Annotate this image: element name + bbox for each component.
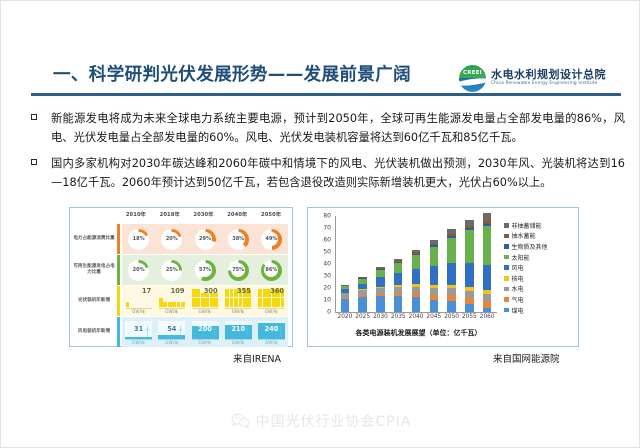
square-bullet-icon <box>31 114 37 120</box>
bar-segment <box>376 296 385 312</box>
y-tick-label: 10 <box>323 297 331 304</box>
wind-fill-level <box>125 337 152 339</box>
legend-item: 太阳能 <box>504 252 578 263</box>
irena-table: 2010年2018年2030年2040年2050年 电力占能源消费比重18%20… <box>70 208 292 346</box>
bar-segment <box>394 296 403 312</box>
irena-column-headers: 2010年2018年2030年2040年2050年 <box>73 211 288 224</box>
y-axis-ticks: 01020304050607080 <box>308 216 334 312</box>
irena-cell: 49% <box>255 224 288 254</box>
bar-stack <box>376 267 385 312</box>
irena-cell: 18% <box>122 224 155 254</box>
irena-row-cells: 20%25%57%75%86% <box>122 255 288 285</box>
bar-stack <box>447 229 456 312</box>
irena-column-header: 2040年 <box>220 211 254 224</box>
bar-column <box>425 240 443 312</box>
creei-emblem-icon: CREEI <box>459 65 486 92</box>
page-title: 一、科学研判光伏发展形势——发展前景广阔 <box>53 63 411 87</box>
wind-turbine-icon <box>245 322 250 333</box>
bar-segment <box>447 288 456 295</box>
irena-cell: 20% <box>122 255 155 285</box>
irena-cell: 210GW/年 <box>222 317 255 347</box>
legend-swatch <box>504 287 509 292</box>
bar-segment <box>430 266 439 285</box>
donut-value: 29% <box>198 232 212 246</box>
donut-gauge: 29% <box>195 229 216 250</box>
x-tick-label: 2040 <box>407 314 425 320</box>
wind-turbine-icon <box>212 322 217 333</box>
irena-cell: 25% <box>155 255 188 285</box>
bar-segment <box>447 263 456 285</box>
organization-logo: CREEI 水电水利规划设计总院 China Renewable Energy … <box>459 64 635 92</box>
chart-frame: 01020304050607080 2020202520302035204020… <box>307 207 579 347</box>
legend-item: 水电 <box>504 284 578 295</box>
irena-column-header: 2018年 <box>153 211 187 224</box>
bar-segment <box>412 269 421 285</box>
bar-stack <box>465 220 474 312</box>
x-tick-label: 2045 <box>425 314 443 320</box>
chart-caption: 各类电源装机发展展望（单位：亿千瓦） <box>326 328 511 338</box>
donut-gauge: 20% <box>161 229 182 250</box>
bar-column <box>460 220 478 312</box>
footer-text: 中国光伏行业协会CPIA <box>256 411 412 431</box>
donut-value: 25% <box>165 263 179 277</box>
bar-segment <box>483 226 492 265</box>
wind-unit: GW/年 <box>258 339 285 347</box>
irena-cell: 300GW/年 <box>188 286 221 316</box>
logo-name-en: China Renewable Energy Engineering Insti… <box>491 82 606 87</box>
irena-cell: 17GW/年 <box>122 286 155 316</box>
bar-segment <box>465 291 474 298</box>
legend-label: 抽水蓄能 <box>512 231 536 240</box>
wind-unit: GW/年 <box>225 339 252 347</box>
donut-gauge: 38% <box>228 229 249 250</box>
legend-swatch <box>504 308 509 313</box>
bullet-text: 国内多家机构对2030年碳达峰和2060年碳中和情境下的风电、光伏装机做出预测，… <box>51 154 625 192</box>
y-tick-label: 50 <box>323 249 331 256</box>
plot-area <box>336 216 496 312</box>
bar-column <box>407 250 425 312</box>
irena-column-header: 2050年 <box>254 211 288 224</box>
y-tick-label: 0 <box>327 309 331 316</box>
y-tick-label: 70 <box>323 225 331 232</box>
pv-unit: GW/年 <box>159 308 185 316</box>
x-tick-label: 2060 <box>478 314 496 320</box>
pv-value: 360 <box>270 287 284 295</box>
pv-unit: GW/年 <box>225 308 251 316</box>
legend-item: 核电 <box>504 273 578 284</box>
donut-gauge: 18% <box>128 229 149 250</box>
bar-stack <box>412 250 421 312</box>
legend-label: 非抽蓄储能 <box>512 221 542 230</box>
y-tick-label: 80 <box>323 213 331 220</box>
donut-gauge: 20% <box>128 260 149 281</box>
wind-fill-box: 200 <box>192 321 219 339</box>
legend-item: 风电 <box>504 262 578 273</box>
pv-unit: GW/年 <box>126 308 152 316</box>
legend-item: 生物质及其他 <box>504 241 578 252</box>
legend-label: 风电 <box>512 263 524 272</box>
irena-row-cells: 31GW/年54GW/年200GW/年210GW/年240GW/年 <box>122 317 288 347</box>
donut-gauge: 49% <box>261 229 282 250</box>
bar-segment <box>394 263 403 273</box>
bullet-text: 新能源发电将成为未来全球电力系统主要电源，预计到2050年，全球可再生能源发电量… <box>51 109 625 147</box>
irena-cell: 86% <box>255 255 288 285</box>
stacked-bar-chart: 01020304050607080 2020202520302035204020… <box>308 208 578 346</box>
bar-stack <box>341 285 350 312</box>
irena-row-accent <box>117 286 120 316</box>
title-underline <box>31 93 621 96</box>
legend-swatch <box>504 297 509 302</box>
irena-row: 可再生能源发电占电力比重20%25%57%75%86% <box>73 255 288 285</box>
irena-cell: 20% <box>155 224 188 254</box>
irena-row-cells: 18%20%29%38%49% <box>122 224 288 254</box>
source-label-left: 来自IRENA <box>233 351 281 365</box>
bar-segment <box>465 304 474 312</box>
pv-value: 355 <box>237 287 251 295</box>
bar-segment <box>376 270 385 277</box>
logo-wave-shape <box>459 76 486 86</box>
irena-row-accent <box>117 224 120 254</box>
wind-fill-box: 210 <box>225 321 252 339</box>
legend-label: 煤电 <box>512 306 524 315</box>
irena-frame: 2010年2018年2030年2040年2050年 电力占能源消费比重18%20… <box>69 207 293 347</box>
irena-row-label: 电力占能源消费比重 <box>73 224 117 254</box>
donut-gauge: 86% <box>261 260 282 281</box>
bar-segment <box>447 301 456 312</box>
donut-value: 20% <box>165 232 179 246</box>
bar-stack <box>430 240 439 312</box>
bar-segment <box>447 238 456 263</box>
wind-fill-box: 240 <box>258 321 285 339</box>
irena-row-cells: 17GW/年109GW/年300GW/年355GW/年360GW/年 <box>122 286 288 316</box>
bar-column <box>354 277 372 312</box>
bullet-list: 新能源发电将成为未来全球电力系统主要电源，预计到2050年，全球可再生能源发电量… <box>25 109 625 199</box>
bar-segment <box>483 265 492 290</box>
bar-segment <box>465 230 474 263</box>
irena-row: 电力占能源消费比重18%20%29%38%49% <box>73 224 288 254</box>
irena-cell: 31GW/年 <box>122 317 155 347</box>
irena-cell: 54GW/年 <box>155 317 188 347</box>
legend-swatch <box>504 223 509 228</box>
pv-value: 109 <box>171 287 185 295</box>
bar-segment <box>412 297 421 312</box>
legend-swatch <box>504 276 509 281</box>
y-tick-label: 20 <box>323 285 331 292</box>
x-tick-label: 2055 <box>460 314 478 320</box>
irena-column-header: 2030年 <box>187 211 221 224</box>
capacity-outlook-chart: 01020304050607080 2020202520302035204020… <box>307 207 579 347</box>
wind-fill-box: 54 <box>158 321 185 339</box>
bar-column <box>389 259 407 312</box>
legend-label: 核电 <box>512 274 524 283</box>
legend-swatch <box>504 265 509 270</box>
donut-value: 49% <box>264 232 278 246</box>
irena-cell: 75% <box>222 255 255 285</box>
donut-gauge: 57% <box>195 260 216 281</box>
irena-cell: 355GW/年 <box>222 286 255 316</box>
legend-swatch <box>504 234 509 239</box>
bar-segment <box>430 288 439 295</box>
irena-cell: 109GW/年 <box>155 286 188 316</box>
irena-rows: 电力占能源消费比重18%20%29%38%49%可再生能源发电占电力比重20%2… <box>73 224 288 347</box>
irena-cell: 360GW/年 <box>255 286 288 316</box>
donut-value: 18% <box>132 232 146 246</box>
irena-row-label: 光伏装机年新增 <box>73 286 117 316</box>
bar-stack <box>483 213 492 312</box>
irena-cell: 240GW/年 <box>255 317 288 347</box>
x-tick-label: 2020 <box>336 314 354 320</box>
x-tick-label: 2035 <box>389 314 407 320</box>
bullet-item: 国内多家机构对2030年碳达峰和2060年碳中和情境下的风电、光伏装机做出预测，… <box>25 154 625 192</box>
irena-row: 光伏装机年新增17GW/年109GW/年300GW/年355GW/年360GW/… <box>73 286 288 316</box>
pv-value: 17 <box>142 287 151 295</box>
legend-item: 煤电 <box>504 305 578 316</box>
bar-segment <box>394 273 403 285</box>
y-tick-label: 30 <box>323 273 331 280</box>
donut-value: 20% <box>132 263 146 277</box>
bar-segment <box>412 255 421 269</box>
pv-value: 300 <box>204 287 218 295</box>
legend-swatch <box>504 255 509 260</box>
wind-turbine-icon <box>178 322 183 333</box>
wind-turbine-icon <box>278 322 283 333</box>
donut-value: 57% <box>198 263 212 277</box>
irena-cell: 38% <box>222 224 255 254</box>
bar-segment <box>341 299 350 312</box>
bar-segment <box>376 277 385 286</box>
x-tick-label: 2050 <box>443 314 461 320</box>
x-axis-labels: 202020252030203520402045205020552060 <box>336 314 496 320</box>
irena-cell: 29% <box>188 224 221 254</box>
pv-unit: GW/年 <box>258 308 284 316</box>
legend-label: 水电 <box>512 284 524 293</box>
irena-row: 风电装机年新增31GW/年54GW/年200GW/年210GW/年240GW/年 <box>73 317 288 347</box>
donut-gauge: 25% <box>161 260 182 281</box>
x-axis-line <box>335 312 497 313</box>
legend-item: 非抽蓄储能 <box>504 220 578 231</box>
bar-column <box>336 285 354 312</box>
bar-segment <box>483 308 492 312</box>
wechat-icon <box>231 413 250 429</box>
wind-fill-box: 31 <box>125 321 152 339</box>
irena-infographic: 2010年2018年2030年2040年2050年 电力占能源消费比重18%20… <box>69 207 293 347</box>
legend-item: 气电 <box>504 294 578 305</box>
bar-segment <box>483 213 492 221</box>
irena-cell: 200GW/年 <box>188 317 221 347</box>
logo-mark-text: CREEI <box>459 70 486 76</box>
y-tick-label: 40 <box>323 261 331 268</box>
legend-label: 气电 <box>512 295 524 304</box>
bar-segment <box>483 294 492 301</box>
irena-row-label: 风电装机年新增 <box>73 317 117 347</box>
wind-turbine-icon <box>145 322 150 333</box>
pv-unit: GW/年 <box>192 308 218 316</box>
logo-name-cn: 水电水利规划设计总院 <box>491 69 606 81</box>
source-label-right: 来自国网能源院 <box>493 351 560 365</box>
square-bullet-icon <box>31 159 37 165</box>
bar-column <box>372 267 390 312</box>
chart-legend: 非抽蓄储能抽水蓄能生物质及其他太阳能风电核电水电气电煤电 <box>504 220 578 315</box>
slide-canvas: 一、科学研判光伏发展形势——发展前景广阔 CREEI 水电水利规划设计总院 Ch… <box>0 0 640 448</box>
irena-row-accent <box>117 317 120 347</box>
bar-segment <box>465 263 474 287</box>
irena-column-header: 2010年 <box>119 211 153 224</box>
legend-swatch <box>504 244 509 249</box>
wind-unit: GW/年 <box>192 339 219 347</box>
bar-series <box>336 216 496 312</box>
irena-cell: 57% <box>188 255 221 285</box>
legend-item: 抽水蓄能 <box>504 231 578 242</box>
bar-segment <box>483 301 492 308</box>
irena-row-label: 可再生能源发电占电力比重 <box>73 255 117 285</box>
footer-watermark: 中国光伏行业协会CPIA <box>1 411 640 431</box>
legend-label: 太阳能 <box>512 253 530 262</box>
x-tick-label: 2025 <box>354 314 372 320</box>
bar-segment <box>430 300 439 312</box>
bar-segment <box>430 247 439 266</box>
bullet-item: 新能源发电将成为未来全球电力系统主要电源，预计到2050年，全球可再生能源发电量… <box>25 109 625 147</box>
donut-value: 86% <box>264 263 278 277</box>
wind-unit: GW/年 <box>158 339 185 347</box>
donut-value: 38% <box>231 232 245 246</box>
donut-value: 75% <box>231 263 245 277</box>
donut-gauge: 75% <box>228 260 249 281</box>
bar-column <box>478 213 496 312</box>
bar-stack <box>394 259 403 312</box>
bar-stack <box>358 277 367 312</box>
bar-segment <box>465 220 474 227</box>
logo-text-block: 水电水利规划设计总院 China Renewable Energy Engine… <box>491 69 606 86</box>
x-tick-label: 2030 <box>372 314 390 320</box>
bar-segment <box>358 297 367 312</box>
y-tick-label: 60 <box>323 237 331 244</box>
wind-unit: GW/年 <box>125 339 152 347</box>
irena-row-accent <box>117 255 120 285</box>
legend-label: 生物质及其他 <box>512 242 548 251</box>
bar-column <box>443 229 461 312</box>
